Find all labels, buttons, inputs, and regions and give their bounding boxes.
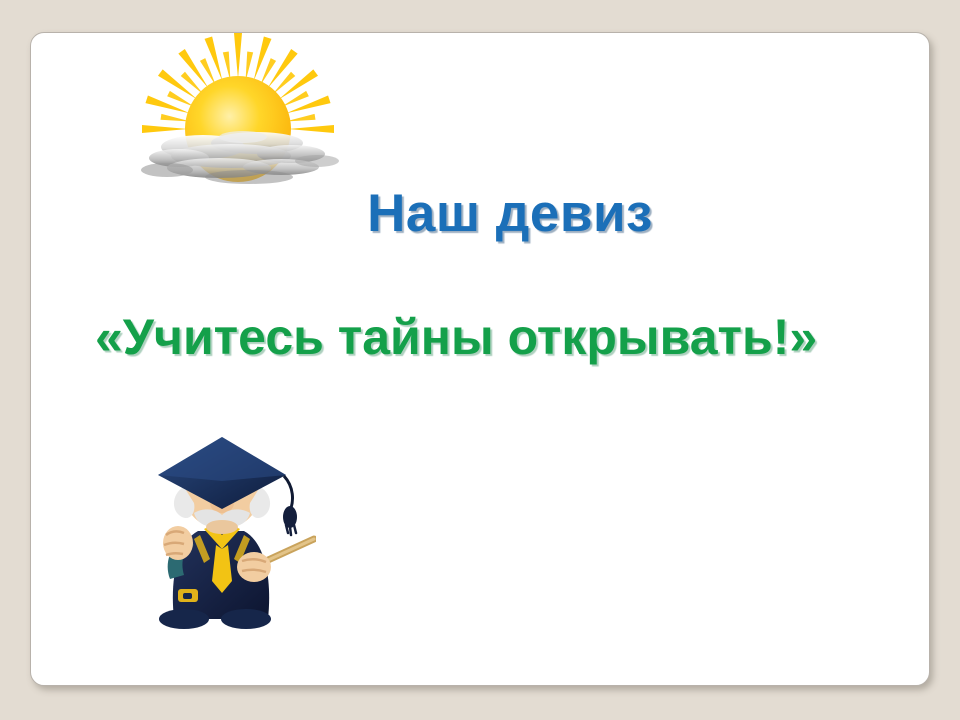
slide-motto-text: «Учитесь тайны открывать!»	[95, 309, 930, 367]
slide-root: Наш девиз «Учитесь тайны открывать!»	[0, 0, 960, 720]
sun-behind-clouds-icon	[131, 32, 346, 185]
cartoon-professor-icon	[126, 431, 316, 631]
slide-content-panel: Наш девиз «Учитесь тайны открывать!»	[30, 32, 930, 686]
slide-title: Наш девиз	[61, 185, 930, 243]
